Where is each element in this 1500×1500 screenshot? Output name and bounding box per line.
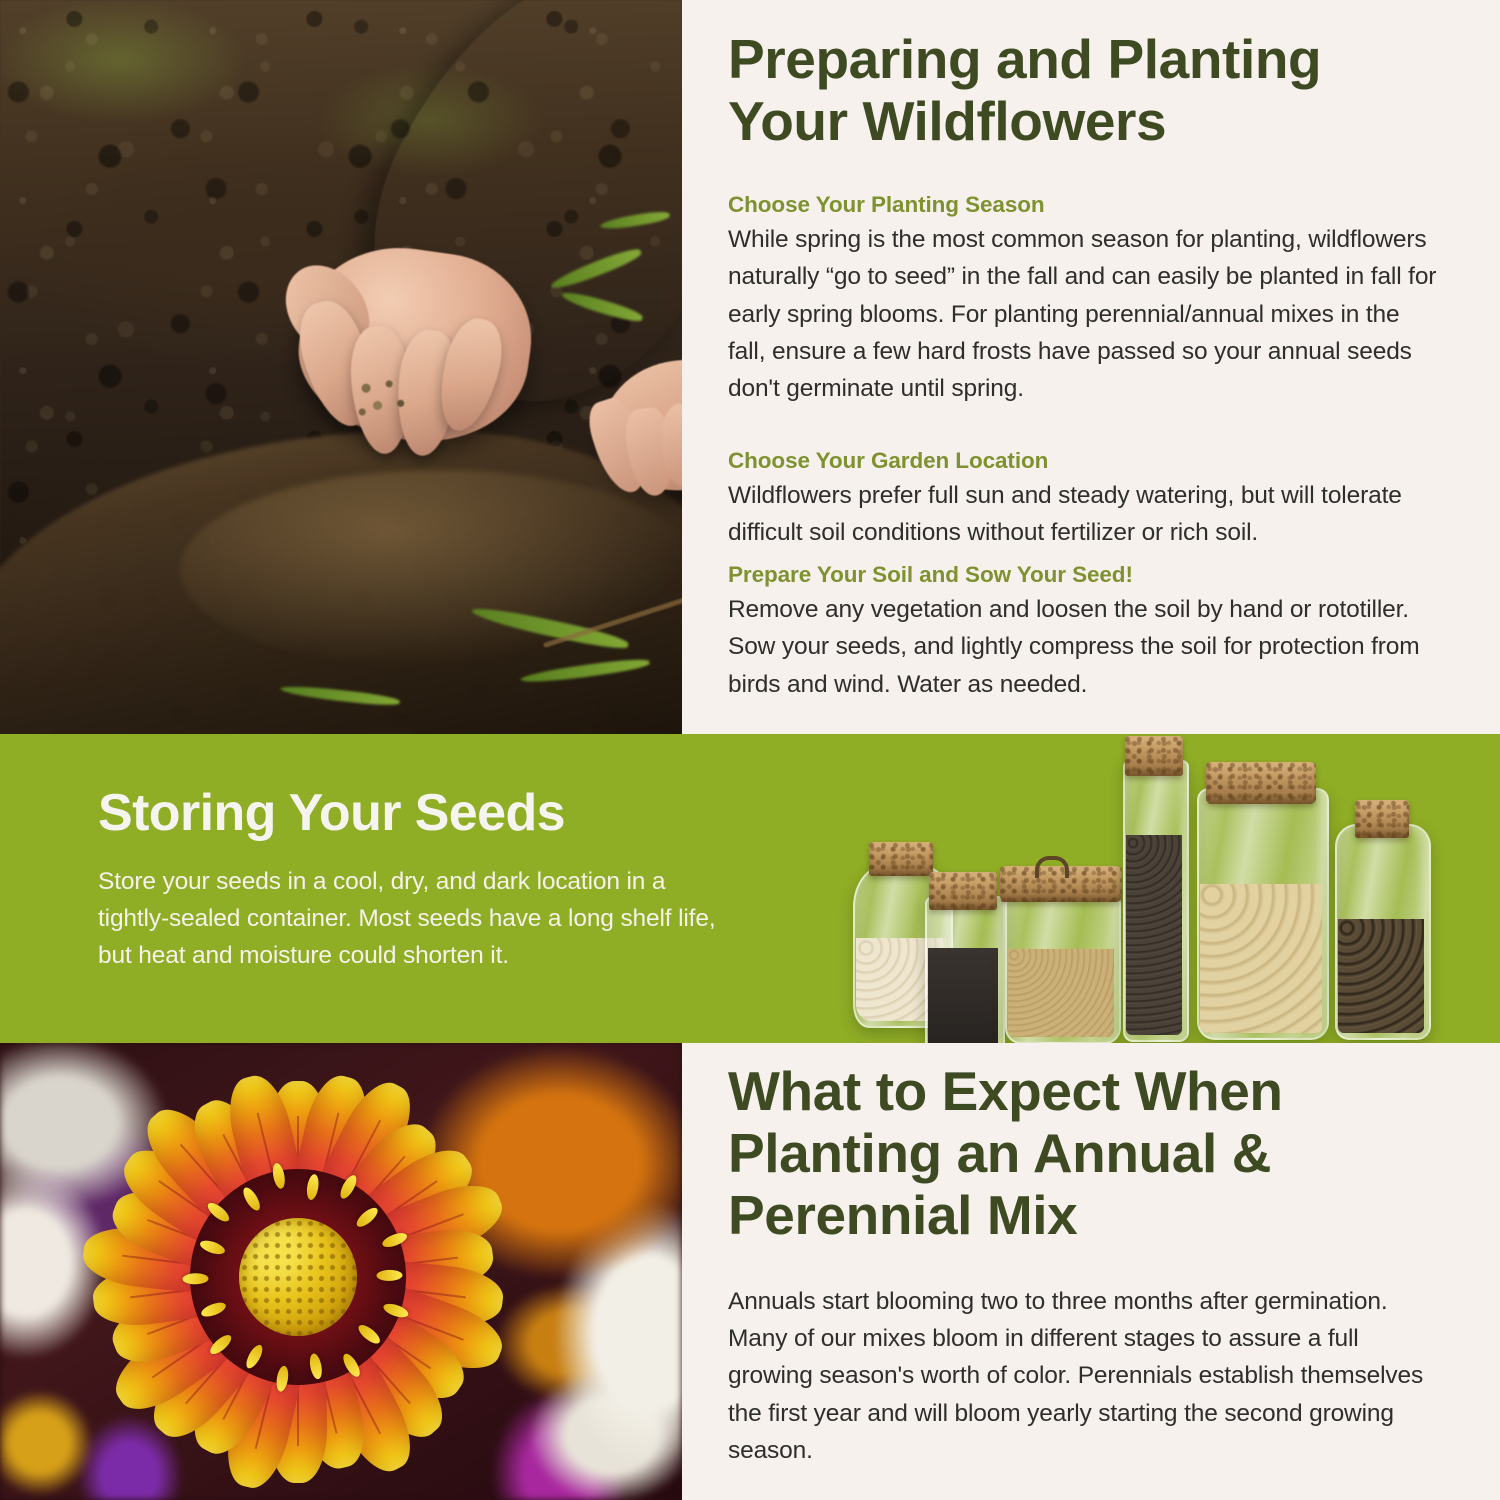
infographic-page: Preparing and Planting Your Wildflowers …: [0, 0, 1500, 1500]
photo-seed-jars: [845, 746, 1455, 1043]
blanket-flower: [38, 1043, 558, 1500]
block-prepare-soil: Prepare Your Soil and Sow Your Seed! Rem…: [728, 560, 1434, 703]
band-title-storing-seeds: Storing Your Seeds: [98, 786, 738, 841]
jar-cork: [929, 872, 997, 910]
jar-cork: [869, 842, 933, 876]
body-prepare-soil: Remove any vegetation and loosen the soi…: [728, 591, 1434, 703]
lid-handle: [1035, 856, 1069, 878]
jar-black-seed: [925, 896, 1001, 1043]
band-text-column: Storing Your Seeds Store your seeds in a…: [98, 786, 738, 974]
page-title-preparing: Preparing and Planting Your Wildflowers: [728, 28, 1428, 152]
jar-pumpkin-seeds: [1197, 788, 1325, 1036]
flower-disc-texture: [239, 1218, 357, 1336]
body-what-to-expect: Annuals start blooming two to three mont…: [728, 1283, 1434, 1469]
section-what-to-expect: What to Expect When Planting an Annual &…: [0, 1043, 1500, 1500]
jar-tall-cylinder-dark-seed: [1123, 760, 1185, 1038]
subheading-garden-location: Choose Your Garden Location: [728, 446, 1428, 475]
subheading-planting-season: Choose Your Planting Season: [728, 190, 1438, 219]
jar-cork: [1355, 800, 1409, 838]
section-preparing-planting: Preparing and Planting Your Wildflowers …: [0, 0, 1500, 734]
body-garden-location: Wildflowers prefer full sun and steady w…: [728, 477, 1428, 551]
band-body-storing-seeds: Store your seeds in a cool, dry, and dar…: [98, 863, 738, 975]
jar-contents: [1008, 949, 1114, 1037]
top-text-column: Preparing and Planting Your Wildflowers …: [728, 0, 1442, 734]
block-planting-season: Choose Your Planting Season While spring…: [728, 190, 1438, 407]
block-garden-location: Choose Your Garden Location Wildflowers …: [728, 446, 1428, 552]
jar-cork: [1206, 762, 1316, 804]
jar-sunflower-seeds: [1335, 824, 1427, 1036]
subheading-prepare-soil: Prepare Your Soil and Sow Your Seed!: [728, 560, 1434, 589]
jar-cork: [1125, 736, 1183, 776]
jar-contents: [1200, 884, 1322, 1033]
body-planting-season: While spring is the most common season f…: [728, 221, 1438, 407]
block-what-to-expect: Annuals start blooming two to three mont…: [728, 1283, 1434, 1469]
jar-tan-seed: [1005, 888, 1117, 1040]
page-title-what-to-expect: What to Expect When Planting an Annual &…: [728, 1060, 1388, 1246]
photo-hand-sowing-seeds: [0, 0, 682, 734]
seeds-in-hand: [352, 372, 416, 426]
jar-contents: [1126, 835, 1182, 1035]
jar-contents: [1338, 919, 1424, 1033]
jar-contents: [928, 948, 998, 1043]
photo-blanket-flower: [0, 1043, 682, 1500]
section-storing-your-seeds: Storing Your Seeds Store your seeds in a…: [0, 734, 1500, 1043]
